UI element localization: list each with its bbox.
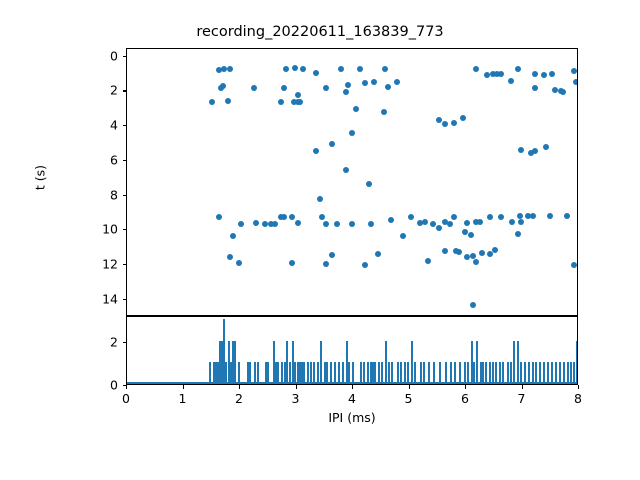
histogram-bar xyxy=(307,362,309,384)
histogram-bar xyxy=(547,362,549,384)
histogram-bar xyxy=(555,362,557,384)
y-tick-label: 0 xyxy=(78,48,118,63)
scatter-point xyxy=(515,66,521,72)
histogram-bar xyxy=(254,362,256,384)
histogram-bar xyxy=(535,362,537,384)
x-tick-label: 6 xyxy=(461,391,469,406)
scatter-point xyxy=(473,259,479,265)
histogram-bar xyxy=(234,341,236,384)
scatter-point xyxy=(532,148,538,154)
x-tick-mark xyxy=(296,385,297,389)
y-tick-mark xyxy=(123,90,127,91)
scatter-point xyxy=(368,221,374,227)
histogram-bar xyxy=(492,362,494,384)
scatter-point xyxy=(573,79,578,85)
scatter-point xyxy=(498,71,504,77)
x-tick-mark xyxy=(578,385,579,389)
histogram-bar xyxy=(378,362,380,384)
x-tick-label: 7 xyxy=(518,391,526,406)
scatter-point xyxy=(388,217,394,223)
y-tick-label: 8 xyxy=(78,187,118,202)
histogram-axes xyxy=(126,316,578,385)
histogram-bar xyxy=(391,362,393,384)
histogram-bar xyxy=(502,362,504,384)
histogram-bar xyxy=(428,362,430,384)
scatter-point xyxy=(317,196,323,202)
scatter-point xyxy=(564,213,570,219)
scatter-point xyxy=(220,83,226,89)
histogram-bar xyxy=(563,362,565,384)
scatter-point xyxy=(460,115,466,121)
y-tick-mark xyxy=(123,56,127,57)
x-axis-label: IPI (ms) xyxy=(126,410,578,425)
histogram-bar xyxy=(320,341,322,384)
histogram-bar xyxy=(420,362,422,384)
histogram-bar xyxy=(257,362,259,384)
y-tick-label: 14 xyxy=(78,291,118,306)
scatter-plot-axes xyxy=(126,48,578,316)
histogram-bar xyxy=(381,362,383,384)
scatter-point xyxy=(343,167,349,173)
histogram-bar xyxy=(330,362,332,384)
histogram-bar xyxy=(464,362,466,384)
scatter-point xyxy=(225,98,231,104)
y-tick-label: 6 xyxy=(78,152,118,167)
histogram-bar xyxy=(338,362,340,384)
scatter-point xyxy=(425,258,431,264)
scatter-point xyxy=(253,220,259,226)
scatter-point xyxy=(366,181,372,187)
y-tick-label: 2 xyxy=(78,334,118,349)
histogram-bar xyxy=(576,341,578,384)
scatter-point xyxy=(338,66,344,72)
y-tick-mark xyxy=(123,160,127,161)
scatter-point xyxy=(289,214,295,220)
histogram-bar xyxy=(385,341,387,384)
scatter-point xyxy=(549,71,555,77)
histogram-bar xyxy=(567,362,569,384)
scatter-point xyxy=(362,80,368,86)
scatter-point xyxy=(319,214,325,220)
x-tick-label: 4 xyxy=(348,391,356,406)
histogram-bar xyxy=(407,362,409,384)
scatter-point xyxy=(236,260,242,266)
scatter-point xyxy=(313,148,319,154)
histogram-bar xyxy=(342,362,344,384)
scatter-point xyxy=(560,89,566,95)
histogram-bar xyxy=(543,362,545,384)
scatter-point xyxy=(468,232,474,238)
histogram-bar xyxy=(482,362,484,384)
scatter-point xyxy=(532,85,538,91)
y-tick-mark xyxy=(123,195,127,196)
x-tick-mark xyxy=(183,385,184,389)
x-tick-label: 0 xyxy=(122,391,130,406)
scatter-point xyxy=(292,65,298,71)
histogram-bar xyxy=(467,362,469,384)
scatter-point xyxy=(323,221,329,227)
scatter-point xyxy=(498,214,504,220)
histogram-bar xyxy=(559,362,561,384)
x-tick-label: 2 xyxy=(235,391,243,406)
histogram-bar xyxy=(326,362,328,384)
scatter-point xyxy=(295,92,301,98)
y-tick-label: 4 xyxy=(78,118,118,133)
histogram-bar xyxy=(352,362,354,384)
histogram-bar xyxy=(439,362,441,384)
histogram-bar xyxy=(445,362,447,384)
x-tick-mark xyxy=(352,385,353,389)
scatter-point xyxy=(530,213,536,219)
matplotlib-figure: recording_20220611_163839_773 t (s) IPI … xyxy=(0,0,640,480)
scatter-point xyxy=(227,254,233,260)
scatter-point xyxy=(456,249,462,255)
scatter-point xyxy=(281,214,287,220)
scatter-point xyxy=(357,66,363,72)
histogram-bar xyxy=(476,341,478,384)
scatter-point xyxy=(400,233,406,239)
scatter-point xyxy=(349,130,355,136)
histogram-bar xyxy=(517,341,519,384)
scatter-point xyxy=(238,221,244,227)
histogram-bar xyxy=(310,362,312,384)
scatter-point xyxy=(283,66,289,72)
scatter-point xyxy=(349,221,355,227)
histogram-bar xyxy=(267,362,269,384)
scatter-point xyxy=(509,219,515,225)
x-tick-mark xyxy=(465,385,466,389)
scatter-point xyxy=(479,250,485,256)
histogram-bar xyxy=(510,362,512,384)
scatter-point xyxy=(385,84,391,90)
scatter-point xyxy=(473,66,479,72)
histogram-bar xyxy=(249,362,251,384)
scatter-point xyxy=(547,213,553,219)
scatter-point xyxy=(323,261,329,267)
histogram-bar xyxy=(507,362,509,384)
histogram-bar xyxy=(313,362,315,384)
scatter-point xyxy=(470,253,476,259)
histogram-bar xyxy=(360,362,362,384)
scatter-point xyxy=(272,221,278,227)
scatter-point xyxy=(300,66,306,72)
scatter-point xyxy=(345,82,351,88)
scatter-point xyxy=(323,85,329,91)
scatter-point xyxy=(571,68,577,74)
histogram-bar xyxy=(225,362,227,384)
histogram-bar xyxy=(400,362,402,384)
y-axis-label: t (s) xyxy=(33,118,48,238)
scatter-point xyxy=(515,231,521,237)
y-tick-label: 2 xyxy=(78,83,118,98)
histogram-bar xyxy=(423,362,425,384)
scatter-point xyxy=(543,144,549,150)
histogram-bar xyxy=(334,362,336,384)
scatter-point xyxy=(477,219,483,225)
scatter-point xyxy=(492,247,498,253)
scatter-point xyxy=(375,251,381,257)
scatter-point xyxy=(518,219,524,225)
scatter-point xyxy=(381,109,387,115)
scatter-point xyxy=(278,99,284,105)
histogram-bar xyxy=(570,362,572,384)
y-tick-mark xyxy=(123,299,127,300)
y-tick-mark xyxy=(123,342,127,343)
histogram-bar xyxy=(317,362,319,384)
scatter-point xyxy=(451,120,457,126)
scatter-point xyxy=(422,219,428,225)
scatter-point xyxy=(297,99,303,105)
histogram-bar xyxy=(473,362,475,384)
scatter-point xyxy=(216,214,222,220)
histogram-baseline xyxy=(127,382,578,384)
scatter-point xyxy=(281,85,287,91)
histogram-bar xyxy=(281,362,283,384)
scatter-point xyxy=(209,99,215,105)
scatter-point xyxy=(230,233,236,239)
histogram-bar xyxy=(411,341,413,384)
scatter-point xyxy=(408,214,414,220)
scatter-point xyxy=(462,229,468,235)
scatter-point xyxy=(382,66,388,72)
histogram-bar xyxy=(454,362,456,384)
scatter-point xyxy=(532,71,538,77)
scatter-point xyxy=(487,214,493,220)
x-tick-label: 3 xyxy=(292,391,300,406)
histogram-bar xyxy=(499,362,501,384)
scatter-point xyxy=(442,248,448,254)
histogram-bar xyxy=(238,362,240,384)
histogram-bar xyxy=(388,362,390,384)
x-tick-label: 5 xyxy=(405,391,413,406)
scatter-point xyxy=(329,141,335,147)
y-tick-label: 10 xyxy=(78,222,118,237)
histogram-bar xyxy=(539,362,541,384)
scatter-point xyxy=(464,220,470,226)
y-tick-mark xyxy=(123,125,127,126)
histogram-bar xyxy=(450,362,452,384)
histogram-bar xyxy=(363,362,365,384)
scatter-point xyxy=(470,302,476,308)
scatter-point xyxy=(362,262,368,268)
scatter-point xyxy=(436,117,442,123)
page-title: recording_20220611_163839_773 xyxy=(0,24,640,40)
histogram-bar xyxy=(551,362,553,384)
histogram-bar xyxy=(433,362,435,384)
histogram-bar xyxy=(459,362,461,384)
scatter-point xyxy=(394,79,400,85)
x-tick-mark xyxy=(126,385,127,389)
histogram-bar xyxy=(495,362,497,384)
histogram-bar xyxy=(520,362,522,384)
histogram-bar xyxy=(209,362,211,384)
histogram-bar xyxy=(277,362,279,384)
scatter-point xyxy=(295,220,301,226)
histogram-bar xyxy=(374,362,376,384)
scatter-point xyxy=(353,106,359,112)
histogram-bar xyxy=(524,362,526,384)
scatter-point xyxy=(371,79,377,85)
histogram-bar xyxy=(289,362,291,384)
y-tick-mark xyxy=(123,264,127,265)
scatter-point xyxy=(313,70,319,76)
scatter-point xyxy=(251,85,257,91)
scatter-point xyxy=(518,147,524,153)
histogram-bar xyxy=(303,362,305,384)
histogram-bar xyxy=(528,362,530,384)
x-tick-label: 8 xyxy=(574,391,582,406)
scatter-point xyxy=(571,262,577,268)
histogram-bar xyxy=(532,362,534,384)
histogram-bar xyxy=(489,362,491,384)
histogram-bar xyxy=(397,362,399,384)
scatter-point xyxy=(329,252,335,258)
histogram-bar xyxy=(348,362,350,384)
x-tick-mark xyxy=(239,385,240,389)
x-tick-label: 1 xyxy=(179,391,187,406)
scatter-point xyxy=(436,225,442,231)
histogram-bar xyxy=(414,362,416,384)
histogram-bar xyxy=(404,362,406,384)
scatter-point xyxy=(447,221,453,227)
scatter-point xyxy=(508,78,514,84)
x-tick-mark xyxy=(409,385,410,389)
y-tick-mark xyxy=(123,229,127,230)
y-tick-label: 0 xyxy=(78,378,118,393)
x-tick-mark xyxy=(522,385,523,389)
histogram-bar xyxy=(367,362,369,384)
histogram-bar xyxy=(485,362,487,384)
histogram-bar xyxy=(513,341,515,384)
scatter-point xyxy=(334,221,340,227)
scatter-point xyxy=(227,66,233,72)
y-tick-label: 12 xyxy=(78,256,118,271)
scatter-point xyxy=(289,260,295,266)
scatter-point xyxy=(451,214,457,220)
scatter-point xyxy=(442,121,448,127)
scatter-point xyxy=(343,89,349,95)
scatter-point xyxy=(541,72,547,78)
